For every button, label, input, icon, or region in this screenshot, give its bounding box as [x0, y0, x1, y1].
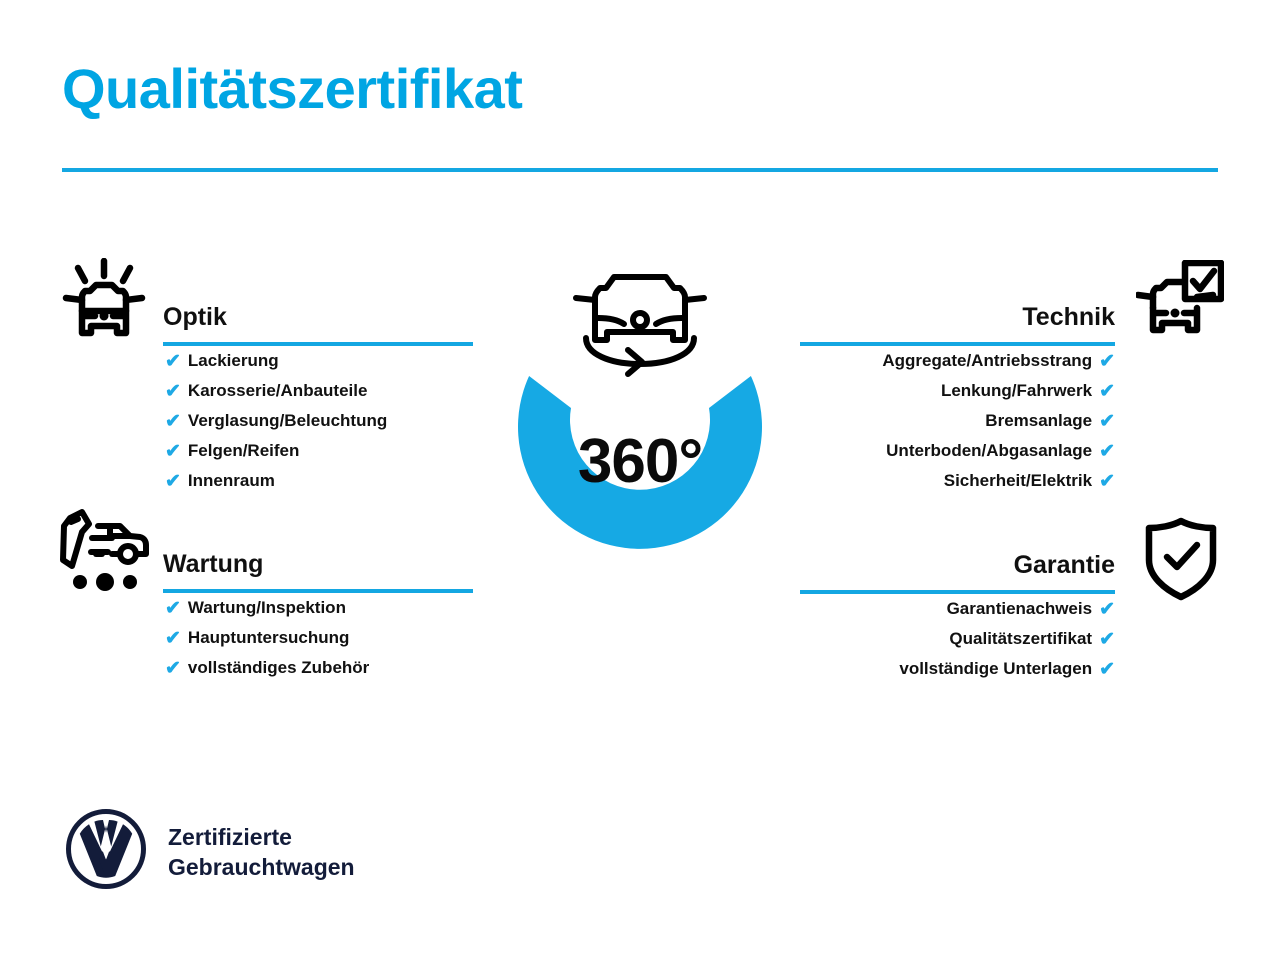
vw-logo-icon — [65, 808, 147, 895]
car-shine-icon — [60, 258, 148, 355]
section-wartung-title: Wartung — [163, 547, 473, 581]
list-item-label: Lackierung — [188, 346, 279, 376]
car-checkbox-icon — [1136, 260, 1224, 355]
list-item-label: Qualitätszertifikat — [949, 624, 1092, 654]
list-item-label: Innenraum — [188, 466, 275, 496]
list-item: Lenkung/Fahrwerk✔ — [800, 376, 1115, 406]
section-wartung-list: ✔Wartung/Inspektion ✔Hauptuntersuchung ✔… — [163, 593, 473, 683]
check-icon: ✔ — [165, 442, 181, 461]
check-icon: ✔ — [1099, 412, 1115, 431]
car-rotate-icon — [576, 277, 704, 374]
list-item-label: Garantienachweis — [947, 594, 1093, 624]
list-item: ✔Innenraum — [165, 466, 473, 496]
list-item: Unterboden/Abgasanlage✔ — [800, 436, 1115, 466]
section-wartung-divider — [163, 589, 473, 593]
section-garantie-list: Garantienachweis✔ Qualitätszertifikat✔ v… — [800, 594, 1115, 684]
list-item-label: Sicherheit/Elektrik — [944, 466, 1092, 496]
list-item: Aggregate/Antriebsstrang✔ — [800, 346, 1115, 376]
section-wartung: Wartung ✔Wartung/Inspektion ✔Hauptunters… — [163, 547, 473, 683]
badge-360-check: Gebrauchtwagen-Check 360° — [460, 248, 820, 628]
badge-value: 360° — [460, 426, 820, 497]
list-item: ✔vollständiges Zubehör — [165, 653, 473, 683]
section-technik-title: Technik — [800, 300, 1115, 334]
car-service-tool-icon — [58, 508, 154, 599]
check-icon: ✔ — [165, 412, 181, 431]
section-optik-list: ✔Lackierung ✔Karosserie/Anbauteile ✔Verg… — [163, 346, 473, 496]
check-icon: ✔ — [165, 659, 181, 678]
list-item: ✔Lackierung — [165, 346, 473, 376]
list-item: ✔Hauptuntersuchung — [165, 623, 473, 653]
list-item: ✔Felgen/Reifen — [165, 436, 473, 466]
check-icon: ✔ — [1099, 352, 1115, 371]
list-item-label: Hauptuntersuchung — [188, 623, 350, 653]
list-item: ✔Wartung/Inspektion — [165, 593, 473, 623]
check-icon: ✔ — [165, 352, 181, 371]
list-item-label: Verglasung/Beleuchtung — [188, 406, 387, 436]
list-item: vollständige Unterlagen✔ — [800, 654, 1115, 684]
list-item-label: Felgen/Reifen — [188, 436, 299, 466]
section-technik: Technik Aggregate/Antriebsstrang✔ Lenkun… — [800, 300, 1115, 496]
list-item-label: Wartung/Inspektion — [188, 593, 346, 623]
list-item: ✔Karosserie/Anbauteile — [165, 376, 473, 406]
list-item-label: Bremsanlage — [985, 406, 1092, 436]
check-icon: ✔ — [1099, 630, 1115, 649]
section-garantie-header: Garantie — [800, 548, 1115, 594]
section-garantie-title: Garantie — [800, 548, 1115, 582]
check-icon: ✔ — [1099, 600, 1115, 619]
list-item: ✔Verglasung/Beleuchtung — [165, 406, 473, 436]
section-optik-header: Optik — [163, 300, 473, 346]
list-item-label: Unterboden/Abgasanlage — [886, 436, 1092, 466]
check-icon: ✔ — [1099, 382, 1115, 401]
check-icon: ✔ — [165, 472, 181, 491]
section-technik-list: Aggregate/Antriebsstrang✔ Lenkung/Fahrwe… — [800, 346, 1115, 496]
section-technik-header: Technik — [800, 300, 1115, 346]
list-item-label: Aggregate/Antriebsstrang — [882, 346, 1092, 376]
check-icon: ✔ — [1099, 442, 1115, 461]
list-item-label: vollständiges Zubehör — [188, 653, 369, 683]
section-garantie: Garantie Garantienachweis✔ Qualitätszert… — [800, 548, 1115, 684]
section-optik: Optik ✔Lackierung ✔Karosserie/Anbauteile… — [163, 300, 473, 496]
footer-brand: Zertifizierte Gebrauchtwagen — [65, 808, 355, 895]
section-garantie-divider — [800, 590, 1115, 594]
section-technik-divider — [800, 342, 1115, 346]
shield-check-icon — [1142, 516, 1220, 607]
list-item-label: Lenkung/Fahrwerk — [941, 376, 1092, 406]
check-icon: ✔ — [1099, 660, 1115, 679]
list-item-label: Karosserie/Anbauteile — [188, 376, 368, 406]
check-icon: ✔ — [165, 382, 181, 401]
list-item: Qualitätszertifikat✔ — [800, 624, 1115, 654]
list-item-label: vollständige Unterlagen — [899, 654, 1092, 684]
list-item: Bremsanlage✔ — [800, 406, 1115, 436]
section-wartung-header: Wartung — [163, 547, 473, 593]
list-item: Sicherheit/Elektrik✔ — [800, 466, 1115, 496]
section-optik-title: Optik — [163, 300, 473, 334]
check-icon: ✔ — [165, 629, 181, 648]
check-icon: ✔ — [165, 599, 181, 618]
section-optik-divider — [163, 342, 473, 346]
check-icon: ✔ — [1099, 472, 1115, 491]
list-item: Garantienachweis✔ — [800, 594, 1115, 624]
footer-brand-text: Zertifizierte Gebrauchtwagen — [168, 822, 355, 882]
page-title: Qualitätszertifikat — [62, 58, 522, 120]
title-divider — [62, 168, 1218, 172]
